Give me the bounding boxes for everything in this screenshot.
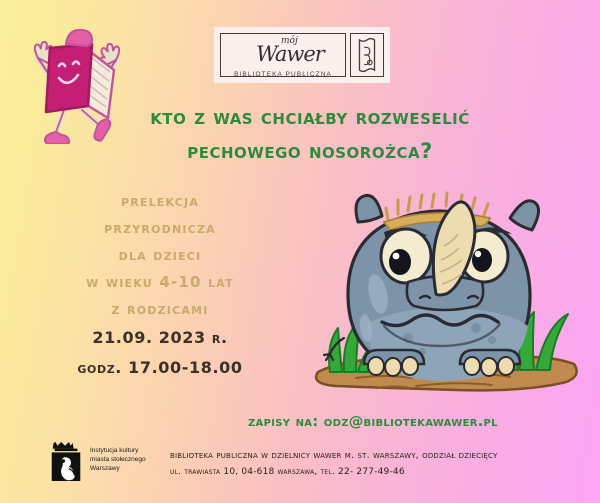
event-date: 21.09. 2023 r. (52, 323, 268, 353)
event-time: Godz. 17.00-18.00 (52, 353, 268, 383)
library-logo: Wawer mój BIBLIOTEKA PUBLICZNA (214, 27, 390, 83)
logo-wordmark-prefix: mój (281, 36, 298, 46)
logo-emblem (350, 33, 384, 77)
city-logo-line-1: Instytucja kultury (90, 446, 146, 455)
event-details: Prelekcja przyrodnicza dla dzieci w wiek… (52, 188, 268, 383)
footer-institution: Biblioteka Publiczna w Dzielnicy Wawer m… (170, 448, 590, 464)
info-line-dla-dzieci: dla dzieci (52, 242, 268, 269)
poster-canvas: Wawer mój BIBLIOTEKA PUBLICZNA Kto z was… (0, 0, 600, 503)
signup-email-line[interactable]: ZAPISY NA: ODZ@BIBLIOTEKAWAWER.PL (248, 414, 578, 430)
info-line-przyrodnicza: przyrodnicza (52, 215, 268, 242)
headline-line-1: Kto z was chciałby rozweselić (150, 105, 470, 129)
info-line-wiek: w wieku 4-10 lat (52, 269, 268, 296)
warsaw-city-logo: Instytucja kultury miasta stołecznego Wa… (46, 440, 166, 484)
info-line-prelekcja: Prelekcja (52, 188, 268, 215)
footer-contact: Biblioteka Publiczna w Dzielnicy Wawer m… (170, 448, 590, 480)
headline-line-2: pechowego nosorożca? (100, 134, 520, 168)
page-title: Kto z was chciałby rozweselić pechowego … (100, 100, 520, 168)
rhinoceros-illustration (296, 186, 596, 404)
footer-address: ul. Trawiasta 10, 04-618 Warszawa, tel. … (170, 464, 590, 480)
city-logo-caption: Instytucja kultury miasta stołecznego Wa… (90, 446, 146, 473)
info-line-z-rodzicami: z rodzicami (52, 296, 268, 323)
city-logo-line-2: miasta stołecznego (90, 455, 146, 464)
city-logo-line-3: Warszawy (90, 464, 146, 473)
logo-subtitle: BIBLIOTEKA PUBLICZNA (220, 71, 346, 78)
